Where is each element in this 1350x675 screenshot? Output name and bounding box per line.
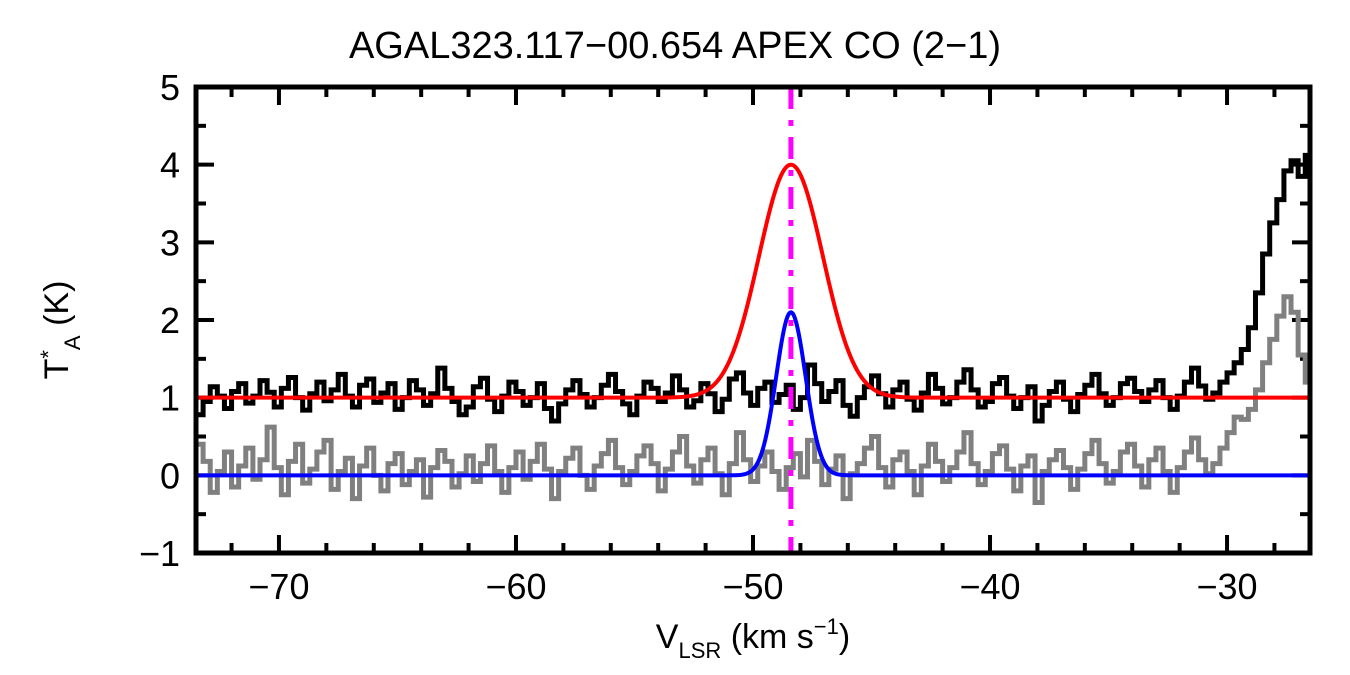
y-tick-label: 1: [160, 378, 180, 419]
x-tick-label: −40: [959, 566, 1020, 607]
spectrum-figure: AGAL323.117−00.654 APEX CO (2−1) T*A (K)…: [0, 0, 1350, 675]
y-tick-label: −1: [139, 533, 180, 574]
x-axis-label-unit-superscript: −1: [814, 614, 839, 639]
x-tick-label: −70: [248, 566, 309, 607]
y-axis-label-unit: (K): [38, 281, 76, 336]
y-axis-label-main: T: [38, 359, 76, 380]
y-tick-label: 2: [160, 300, 180, 341]
spectrum-plot: AGAL323.117−00.654 APEX CO (2−1) T*A (K)…: [0, 0, 1350, 675]
y-axis-label-superscript: *: [36, 350, 61, 359]
x-axis-label-main: V: [656, 618, 679, 656]
y-tick-label: 3: [160, 222, 180, 263]
x-axis-label-unit-open: (km s: [721, 618, 814, 656]
chart-title: AGAL323.117−00.654 APEX CO (2−1): [349, 25, 1001, 67]
y-tick-label: 0: [160, 455, 180, 496]
y-axis-label-subscript: A: [60, 335, 85, 350]
x-tick-label: −30: [1197, 566, 1258, 607]
x-axis-label-subscript: LSR: [678, 638, 721, 663]
y-tick-label: 5: [160, 67, 180, 108]
x-tick-label: −50: [722, 566, 783, 607]
x-tick-label: −60: [485, 566, 546, 607]
y-tick-label: 4: [160, 145, 180, 186]
x-axis-label-unit-close: ): [839, 618, 850, 656]
plot-background: [0, 0, 1350, 675]
